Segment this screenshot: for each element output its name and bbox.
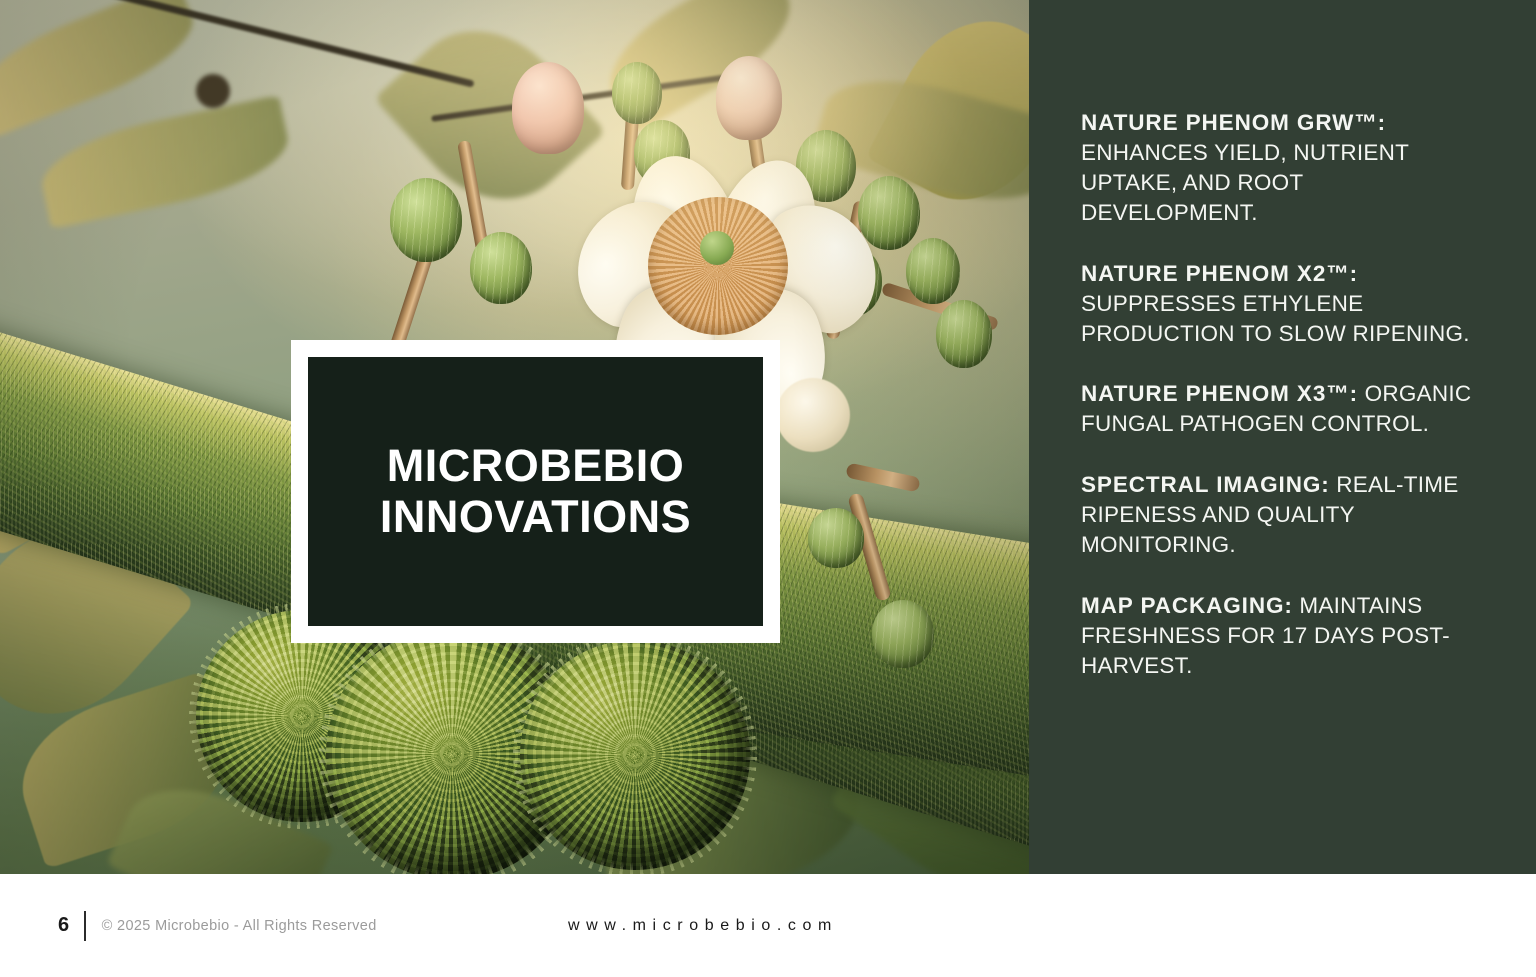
- feature-item: NATURE PHENOM X2™: SUPPRESSES ETHYLENE P…: [1081, 259, 1481, 349]
- bud-ribs: [936, 300, 992, 368]
- feature-description: SUPPRESSES ETHYLENE PRODUCTION TO SLOW R…: [1081, 291, 1470, 346]
- title-card: MICROBEBIO INNOVATIONS: [291, 340, 780, 643]
- feature-item: NATURE PHENOM X3™: ORGANIC FUNGAL PATHOG…: [1081, 379, 1481, 439]
- feature-label: SPECTRAL IMAGING:: [1081, 472, 1330, 497]
- feature-item: NATURE PHENOM GRW™: ENHANCES YIELD, NUTR…: [1081, 108, 1481, 228]
- footer-divider: [84, 911, 86, 941]
- footer-left-group: 6 © 2025 Microbebio - All Rights Reserve…: [58, 911, 377, 941]
- secondary-flower: [776, 378, 850, 452]
- green-bud: [470, 232, 532, 304]
- title-line-1: MICROBEBIO: [387, 441, 685, 491]
- website-url[interactable]: www.microbebio.com: [568, 917, 838, 935]
- durian-fruit: [520, 640, 750, 870]
- page-number: 6: [58, 914, 70, 937]
- hero-section: MICROBEBIO INNOVATIONS NATURE PHENOM GRW…: [0, 0, 1536, 874]
- pink-bud: [716, 56, 782, 140]
- bud-ribs: [612, 62, 662, 124]
- copyright-text: © 2025 Microbebio - All Rights Reserved: [102, 918, 377, 934]
- green-bud: [390, 178, 462, 262]
- bud-ribs: [390, 178, 462, 262]
- bud-ribs: [470, 232, 532, 304]
- feature-description: ENHANCES YIELD, NUTRIENT UPTAKE, AND ROO…: [1081, 140, 1409, 225]
- title-card-inner: MICROBEBIO INNOVATIONS: [308, 357, 763, 626]
- hanging-green-bud: [872, 600, 934, 668]
- durian-spikes: [520, 640, 750, 870]
- green-bud: [906, 238, 960, 304]
- feature-label: NATURE PHENOM X3™:: [1081, 381, 1358, 406]
- feature-item: SPECTRAL IMAGING: REAL-TIME RIPENESS AND…: [1081, 470, 1481, 560]
- green-bud: [612, 62, 662, 124]
- feature-label: NATURE PHENOM GRW™:: [1081, 110, 1386, 135]
- features-sidebar: NATURE PHENOM GRW™: ENHANCES YIELD, NUTR…: [1029, 0, 1536, 874]
- pink-bud: [512, 62, 584, 154]
- twig-nut: [196, 74, 230, 108]
- hanging-green-bud: [808, 508, 864, 568]
- bud-ribs: [808, 508, 864, 568]
- title-line-2: INNOVATIONS: [380, 492, 691, 542]
- flower-stamen: [648, 197, 788, 335]
- bud-ribs: [872, 600, 934, 668]
- feature-label: NATURE PHENOM X2™:: [1081, 261, 1358, 286]
- flower-pistil: [700, 231, 734, 265]
- green-bud: [936, 300, 992, 368]
- feature-label: MAP PACKAGING:: [1081, 593, 1293, 618]
- feature-item: MAP PACKAGING: MAINTAINS FRESHNESS FOR 1…: [1081, 591, 1481, 681]
- page-footer: 6 © 2025 Microbebio - All Rights Reserve…: [0, 874, 1536, 977]
- slide-page: MICROBEBIO INNOVATIONS NATURE PHENOM GRW…: [0, 0, 1536, 977]
- bud-ribs: [906, 238, 960, 304]
